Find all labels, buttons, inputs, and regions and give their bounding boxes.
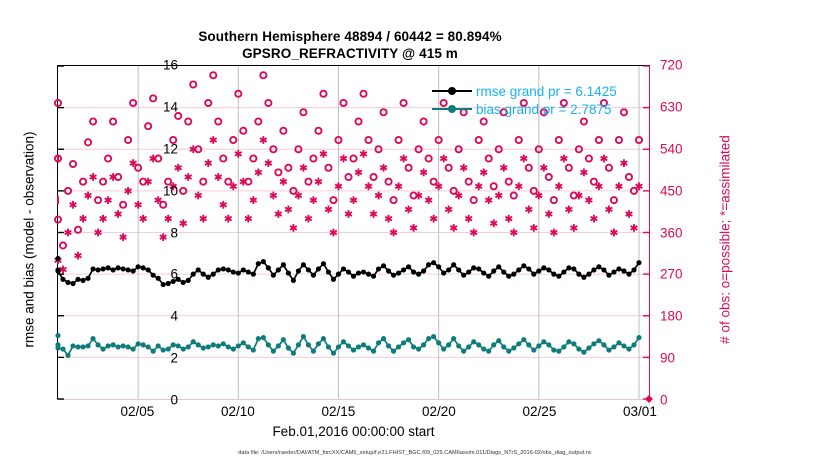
legend-label-bias: bias grand pr = 2.7875 [476,102,611,117]
y-tick-right: 90 [660,351,716,366]
y-tick-right: 630 [660,99,716,114]
legend-label-rmse: rmse grand pr = 6.1425 [476,84,617,99]
legend-item-rmse[interactable]: rmse grand pr = 6.1425 [430,82,617,100]
y-tick-left: 4 [118,309,178,324]
y-tick-right: 450 [660,183,716,198]
y-tick-right: 270 [660,267,716,282]
legend-swatch-rmse [430,84,474,98]
page-subtitle: GPSRO_REFRACTIVITY @ 415 m [0,46,700,61]
y-tick-right: 360 [660,225,716,240]
legend: rmse grand pr = 6.1425 bias grand pr = 2… [430,82,617,118]
legend-swatch-bias [430,102,474,116]
y-tick-right: 540 [660,141,716,156]
x-tick: 02/05 [121,404,155,419]
y-axis-right-label: # of obs: o=possible; *=assimilated [718,90,733,390]
y-tick-right: 720 [660,58,716,73]
y-tick-left: 10 [118,183,178,198]
y-tick-left: 6 [118,267,178,282]
y-tick-right: 180 [660,309,716,324]
x-tick: 02/10 [221,404,255,419]
data-file-caption: data file: /Users/raeder/DAI/ATM_forcXX/… [0,450,830,456]
x-tick: 02/25 [523,404,557,419]
legend-item-bias[interactable]: bias grand pr = 2.7875 [430,100,617,118]
y-tick-left: 8 [118,225,178,240]
x-tick: 03/01 [623,404,657,419]
y-tick-left: 12 [118,141,178,156]
chart-figure: Southern Hemisphere 48894 / 60442 = 80.8… [0,0,830,470]
y-tick-left: 2 [118,351,178,366]
y-tick-right: 0 [660,393,716,408]
y-axis-left-label: rmse and bias (model - observation) [22,90,37,390]
y-tick-left: 16 [118,58,178,73]
x-axis-label: Feb.01,2016 00:00:00 start [57,424,650,439]
x-tick: 02/15 [322,404,356,419]
page-title: Southern Hemisphere 48894 / 60442 = 80.8… [0,29,700,44]
y-tick-left: 14 [118,99,178,114]
x-tick: 02/20 [422,404,456,419]
